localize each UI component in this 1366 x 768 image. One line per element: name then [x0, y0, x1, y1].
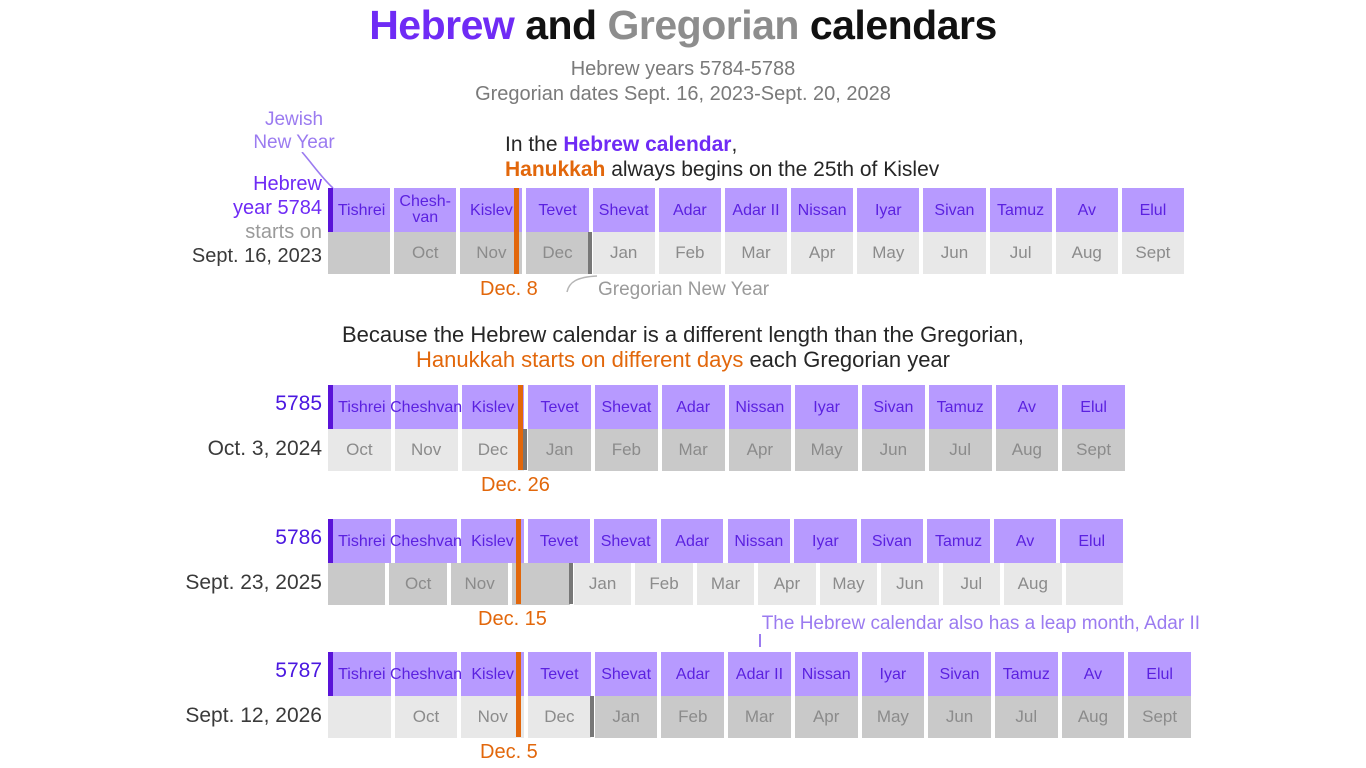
gregorian-month-cell: Jan [593, 232, 655, 274]
hebrew-month-cell: Tevet [526, 188, 588, 232]
subtitle-line-2: Gregorian dates Sept. 16, 2023-Sept. 20,… [0, 82, 1366, 107]
headline-different-days: Because the Hebrew calendar is a differe… [0, 322, 1366, 372]
hanukkah-start-marker [516, 696, 521, 737]
headline-1-hebrew-calendar: Hebrew calendar [563, 133, 731, 156]
gregorian-month-cell: Jan [574, 563, 631, 605]
gregorian-month-cell: Jan [528, 429, 591, 471]
hebrew-band-5784: TishreiChesh-vanKislevTevetShevatAdarAda… [328, 188, 1184, 232]
hebrew-month-cell: Shevat [594, 519, 657, 563]
row-year-5786: 5786 [150, 526, 322, 550]
gregorian-month-cell: Nov [461, 696, 524, 738]
row-5784-label-line-1: Hebrew [150, 172, 322, 196]
hanukkah-start-marker [516, 652, 521, 696]
hebrew-month-cell: Tishrei [333, 385, 391, 429]
hebrew-month-cell: Elul [1122, 188, 1184, 232]
gregorian-month-cell: Feb [661, 696, 724, 738]
gregorian-month-cell: May [820, 563, 877, 605]
gregorian-band-5786: OctNovJanFebMarAprMayJunJulAug [328, 563, 1123, 604]
hanukkah-start-marker [518, 429, 523, 470]
hebrew-month-cell: Elul [1060, 519, 1123, 563]
hebrew-month-cell: Iyar [794, 519, 857, 563]
hebrew-month-cell: Tamuz [927, 519, 990, 563]
hanukkah-date-5785: Dec. 26 [481, 474, 550, 497]
gregorian-month-cell: Jul [995, 696, 1058, 738]
gregorian-month-cell: Aug [1056, 232, 1118, 274]
hebrew-month-cell: Sivan [923, 188, 985, 232]
hanukkah-start-marker [516, 519, 521, 563]
hebrew-month-cell: Adar [662, 385, 725, 429]
hebrew-month-cell: Kislev [461, 519, 524, 563]
gregorian-month-cell: Oct [394, 232, 456, 274]
gregorian-month-cell: Apr [791, 232, 853, 274]
gregorian-month-cell: Jul [990, 232, 1052, 274]
hebrew-band-5787: TishreiCheshvanKislevTevetShevatAdarAdar… [328, 652, 1191, 696]
gregorian-month-cell: Aug [996, 429, 1059, 471]
row-start-date-5787: Sept. 12, 2026 [70, 704, 322, 728]
hebrew-month-cell: Av [1056, 188, 1118, 232]
hanukkah-date-5787: Dec. 5 [480, 741, 538, 764]
hebrew-month-cell: Cheshvan [395, 652, 458, 696]
hebrew-month-cell: Tishrei [333, 519, 391, 563]
hebrew-month-cell: Nissan [728, 519, 791, 563]
hebrew-month-cell: Av [994, 519, 1057, 563]
gregorian-month-cell: Sept [1128, 696, 1191, 738]
gregorian-month-cell: Jul [943, 563, 1000, 605]
gregorian-month-cell: Aug [1062, 696, 1125, 738]
infographic-canvas: Hebrew and Gregorian calendars Hebrew ye… [0, 0, 1366, 768]
hebrew-band-5785: TishreiCheshvanKislevTevetShevatAdarNiss… [328, 385, 1125, 429]
row-5784-label-line-2: year 5784 [150, 196, 322, 220]
gregorian-month-cell: Dec [462, 429, 525, 471]
gregorian-month-cell: Jun [928, 696, 991, 738]
gregorian-month-cell: Jul [929, 429, 992, 471]
hebrew-month-cell: Tamuz [990, 188, 1052, 232]
gregorian-month-cell [328, 563, 385, 605]
gregorian-month-cell: Mar [697, 563, 754, 605]
gregorian-month-cell: Apr [795, 696, 858, 738]
gregorian-month-cell: Jan [595, 696, 658, 738]
hebrew-month-cell: Kislev [462, 385, 525, 429]
gregorian-new-year-marker [588, 232, 592, 274]
gregorian-month-cell: Aug [1004, 563, 1061, 605]
hebrew-month-cell: Adar [661, 652, 724, 696]
hebrew-month-cell: Tamuz [929, 385, 992, 429]
row-start-date-5786: Sept. 23, 2025 [70, 571, 322, 595]
headline-2-line-2: Hanukkah starts on different days each G… [0, 347, 1366, 372]
hebrew-month-cell: Nissan [791, 188, 853, 232]
hebrew-month-cell: Adar [659, 188, 721, 232]
hebrew-month-cell: Iyar [862, 652, 925, 696]
hebrew-month-cell: Sivan [862, 385, 925, 429]
hanukkah-start-marker [514, 232, 519, 274]
gregorian-month-cell: Oct [389, 563, 446, 605]
headline-2-rest: each Gregorian year [743, 347, 950, 372]
gregorian-month-cell: Nov [451, 563, 508, 605]
gregorian-month-cell: May [862, 696, 925, 738]
hebrew-month-cell: Elul [1062, 385, 1125, 429]
gregorian-month-cell: Sept [1062, 429, 1125, 471]
hebrew-band-5786: TishreiCheshvanKislevTevetShevatAdarNiss… [328, 519, 1123, 563]
hebrew-month-cell: Kislev [461, 652, 524, 696]
gregorian-month-cell: May [795, 429, 858, 471]
gregorian-month-cell: Jun [923, 232, 985, 274]
hebrew-month-cell: Nissan [729, 385, 792, 429]
gregorian-month-cell [328, 696, 391, 738]
hanukkah-start-marker [514, 188, 519, 232]
gregorian-month-cell: Mar [728, 696, 791, 738]
gregorian-month-cell: Jun [881, 563, 938, 605]
leap-month-annotation: The Hebrew calendar also has a leap mont… [520, 613, 1200, 635]
hebrew-year-start-marker [328, 188, 333, 232]
hebrew-month-cell: Av [996, 385, 1059, 429]
headline-1-pre: In the [505, 133, 563, 156]
gregorian-month-cell: Mar [725, 232, 787, 274]
hebrew-month-cell: Sivan [928, 652, 991, 696]
gregorian-month-cell [1066, 563, 1123, 605]
hebrew-month-cell: Cheshvan [395, 519, 458, 563]
hebrew-month-cell: Chesh-van [394, 188, 456, 232]
hebrew-month-cell: Shevat [593, 188, 655, 232]
hebrew-month-cell: Tishrei [333, 652, 391, 696]
title-word-gregorian: Gregorian [608, 2, 799, 48]
gregorian-month-cell: Feb [659, 232, 721, 274]
hebrew-month-cell: Adar II [725, 188, 787, 232]
hanukkah-date-5784: Dec. 8 [480, 278, 538, 301]
gregorian-month-cell: Sept [1122, 232, 1184, 274]
jewish-new-year-line-2: New Year [232, 131, 356, 154]
row-5784-start-date: Sept. 16, 2023 [150, 244, 322, 268]
gregorian-new-year-leader-line [565, 272, 599, 294]
hebrew-month-cell: Tevet [528, 652, 591, 696]
headline-1-line-1: In the Hebrew calendar, [505, 132, 1225, 157]
gregorian-new-year-annotation: Gregorian New Year [598, 279, 769, 301]
gregorian-month-cell: Oct [395, 696, 458, 738]
hebrew-month-cell: Iyar [795, 385, 858, 429]
hebrew-year-start-marker [328, 519, 333, 563]
row-year-5785: 5785 [150, 392, 322, 416]
headline-1-rest: always begins on the 25th of Kislev [605, 158, 939, 181]
hanukkah-start-marker [518, 385, 523, 429]
hebrew-month-cell: Tishrei [333, 188, 390, 232]
hebrew-month-cell: Tamuz [995, 652, 1058, 696]
headline-1-hanukkah: Hanukkah [505, 158, 605, 181]
page-title: Hebrew and Gregorian calendars [0, 2, 1366, 49]
title-word-calendars: calendars [799, 2, 997, 48]
subtitle: Hebrew years 5784-5788 Gregorian dates S… [0, 57, 1366, 107]
hebrew-month-cell: Adar [661, 519, 724, 563]
gregorian-month-cell: Apr [758, 563, 815, 605]
headline-2-orange: Hanukkah starts on different days [416, 347, 743, 372]
hanukkah-start-marker [516, 563, 521, 604]
title-word-hebrew: Hebrew [369, 2, 514, 48]
gregorian-new-year-marker [590, 696, 594, 737]
gregorian-month-cell: Feb [595, 429, 658, 471]
headline-2-line-1: Because the Hebrew calendar is a differe… [0, 322, 1366, 347]
gregorian-month-cell: Feb [635, 563, 692, 605]
row-start-date-5785: Oct. 3, 2024 [90, 437, 322, 461]
gregorian-new-year-marker [523, 429, 527, 470]
hebrew-month-cell: Elul [1128, 652, 1191, 696]
gregorian-month-cell: Mar [662, 429, 725, 471]
hebrew-month-cell: Shevat [595, 652, 658, 696]
title-word-and: and [514, 2, 607, 48]
headline-1-post: , [731, 133, 737, 156]
gregorian-band-5784: OctNovDecJanFebMarAprMayJunJulAugSept [328, 232, 1184, 274]
hebrew-month-cell: Shevat [595, 385, 658, 429]
headline-hanukkah-kislev: In the Hebrew calendar, Hanukkah always … [505, 132, 1225, 182]
row-5784-label-line-3: starts on [150, 220, 322, 244]
gregorian-month-cell: Apr [729, 429, 792, 471]
row-year-5787: 5787 [150, 659, 322, 683]
gregorian-band-5785: OctNovDecJanFebMarAprMayJunJulAugSept [328, 429, 1125, 470]
hebrew-month-cell: Adar II [728, 652, 791, 696]
gregorian-month-cell: Dec [526, 232, 588, 274]
hebrew-month-cell: Tevet [528, 519, 591, 563]
gregorian-month-cell: Oct [328, 429, 391, 471]
gregorian-new-year-marker [569, 563, 573, 604]
hebrew-month-cell: Cheshvan [395, 385, 458, 429]
jewish-new-year-annotation: Jewish New Year [232, 108, 356, 154]
gregorian-band-5787: OctNovDecJanFebMarAprMayJunJulAugSept [328, 696, 1191, 737]
gregorian-month-cell: Nov [395, 429, 458, 471]
hebrew-month-cell: Iyar [857, 188, 919, 232]
jewish-new-year-line-1: Jewish [232, 108, 356, 131]
leap-month-pointer-tick [759, 634, 761, 647]
hebrew-month-cell: Sivan [861, 519, 924, 563]
hebrew-month-cell: Tevet [528, 385, 591, 429]
gregorian-month-cell: May [857, 232, 919, 274]
subtitle-line-1: Hebrew years 5784-5788 [0, 57, 1366, 82]
gregorian-month-cell: Jun [862, 429, 925, 471]
gregorian-month-cell: Dec [528, 696, 591, 738]
hebrew-month-cell: Av [1062, 652, 1125, 696]
row-label-5784: Hebrew year 5784 starts on Sept. 16, 202… [150, 172, 322, 268]
headline-1-line-2: Hanukkah always begins on the 25th of Ki… [505, 157, 1225, 182]
hebrew-month-cell: Nissan [795, 652, 858, 696]
hebrew-year-start-marker [328, 652, 333, 696]
hebrew-year-start-marker [328, 385, 333, 429]
gregorian-month-cell [328, 232, 390, 274]
